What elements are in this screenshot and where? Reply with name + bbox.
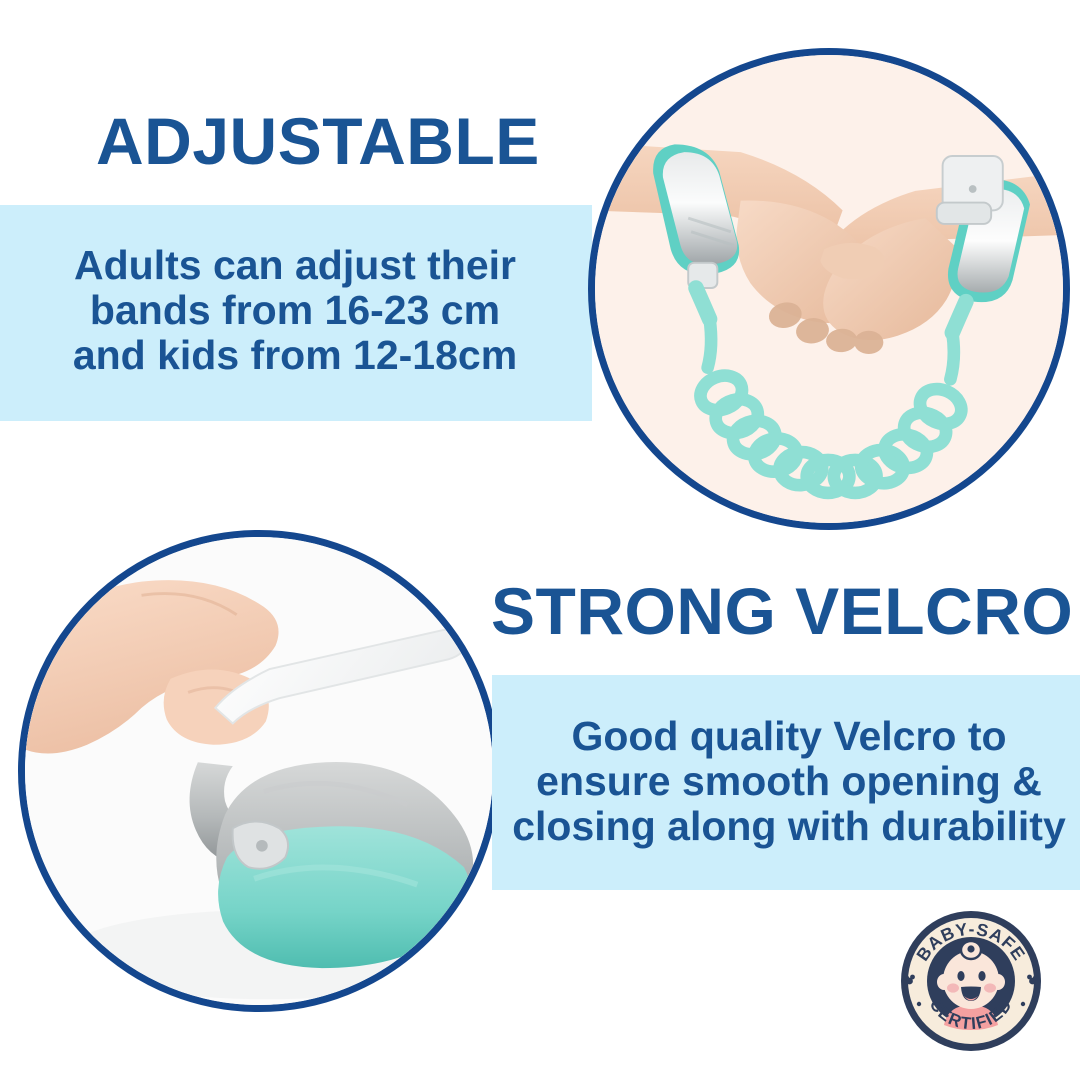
velcro-body-text: Good quality Velcro to ensure smooth ope… (500, 714, 1078, 849)
velcro-photo-hand-peeling-strap (18, 530, 500, 1012)
baby-safe-certified-badge: BABY-SAFE CERTIFIED (896, 906, 1046, 1056)
velcro-heading: STRONG VELCRO (491, 578, 1073, 644)
adjustable-heading: ADJUSTABLE (96, 108, 540, 174)
hands-wristband-illustration (595, 55, 1063, 523)
badge-graphic: BABY-SAFE CERTIFIED (896, 906, 1046, 1056)
velcro-strap-illustration (25, 537, 493, 1005)
adjustable-body-text: Adults can adjust their bands from 16-23… (20, 243, 570, 378)
infographic-canvas: ADJUSTABLE Adults can adjust their bands… (0, 0, 1080, 1080)
adjustable-photo-hands-with-wristbands (588, 48, 1070, 530)
